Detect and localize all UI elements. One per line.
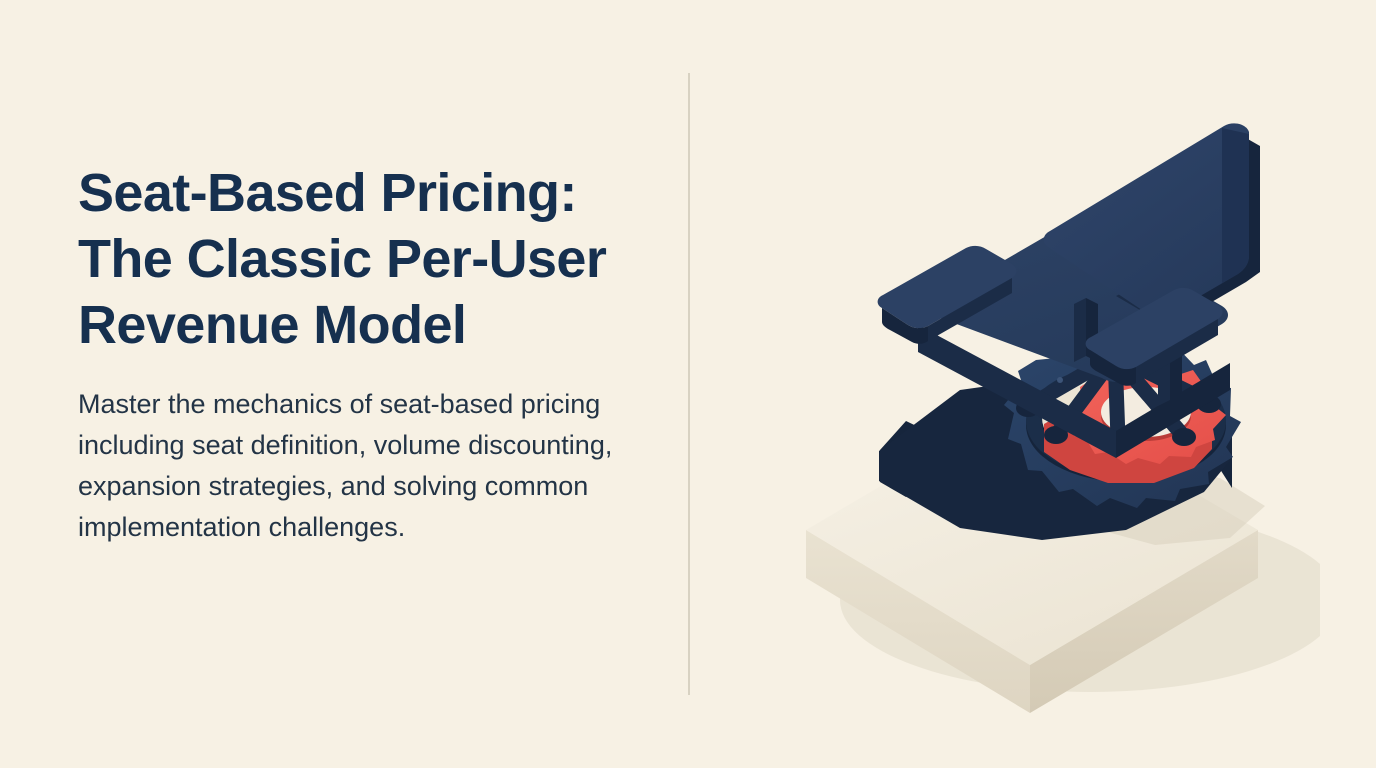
title-line-2: The Classic Per-User [78, 229, 606, 289]
vertical-divider [688, 73, 690, 695]
page-title: Seat-Based Pricing:The Classic Per-UserR… [78, 160, 638, 358]
illustration-isometric-chair-gears [760, 60, 1320, 720]
slide-subtitle: Master the mechanics of seat-based prici… [78, 384, 623, 548]
text-column: Seat-Based Pricing:The Classic Per-UserR… [78, 160, 638, 548]
title-line-3: Revenue Model [78, 295, 466, 355]
title-line-1: Seat-Based Pricing: [78, 163, 577, 223]
slide-canvas: Seat-Based Pricing:The Classic Per-UserR… [0, 0, 1376, 768]
